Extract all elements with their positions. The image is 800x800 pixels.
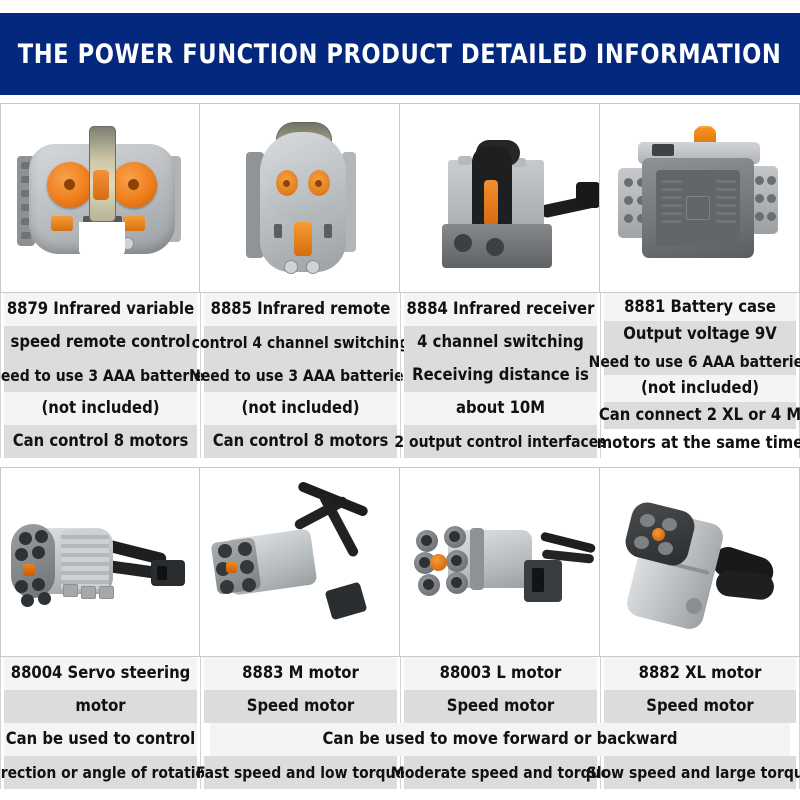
product-line: 88004 Servo steering [4,657,197,690]
merged-usage-note: Can be used to move forward or backward [210,723,790,756]
torque-cell-8883: Fast speed and low torque [200,756,400,789]
header-banner: THE POWER FUNCTION PRODUCT DETAILED INFO… [0,13,800,95]
product-image-infrared-variable-speed-remote-control [0,103,200,293]
product-line: (not included) [204,392,397,425]
product-line: Slow speed and large torque [604,756,796,789]
product-image-m-motor [200,467,400,657]
product-line: control 4 channel switching [204,326,397,359]
product-line: direction or angle of rotation [4,756,197,789]
product-cell-8881: 8881 Battery case Output voltage 9V Need… [600,293,800,458]
product-line: Need to use 6 AAA batteries [604,348,796,375]
product-line: 88003 L motor [404,657,597,690]
product-line: Receiving distance is [404,359,597,392]
product-line: Can control 8 motors [204,425,397,458]
product-image-infrared-receiver [400,103,600,293]
torque-cell-88003: Moderate speed and torque [400,756,600,789]
torque-cell-88004: direction or angle of rotation [0,756,200,789]
product-cell-8882: 8882 XL motor Speed motor [600,657,800,723]
product-text-row-2-usage: Can be used to control Can be used to mo… [0,723,800,756]
product-line: Moderate speed and torque [404,756,597,789]
product-line: motors at the same time [604,429,796,458]
product-cell-88003: 88003 L motor Speed motor [400,657,600,723]
product-image-row-2 [0,467,800,657]
product-information-poster: THE POWER FUNCTION PRODUCT DETAILED INFO… [0,0,800,800]
torque-cell-8882: Slow speed and large torque [600,756,800,789]
product-line: 8885 Infrared remote [204,293,397,326]
product-image-battery-case [600,103,800,293]
product-line: Speed motor [604,690,796,723]
product-line: Can connect 2 XL or 4 M [604,402,796,429]
product-line: 2 output control interfaces [404,425,597,458]
product-line: Speed motor [404,690,597,723]
product-line: speed remote control [4,326,197,359]
product-cell-8885: 8885 Infrared remote control 4 channel s… [200,293,400,458]
product-line: Can be used to control [4,723,197,756]
product-line: about 10M [404,392,597,425]
product-text-row-1: 8879 Infrared variable speed remote cont… [0,293,800,458]
row-spacer [0,458,800,467]
product-line: (not included) [604,375,796,402]
product-text-row-2-torque: direction or angle of rotation Fast spee… [0,756,800,789]
product-line: 8881 Battery case [604,293,796,321]
product-line: Need to use 3 AAA batteries [204,359,397,392]
product-line: 8882 XL motor [604,657,796,690]
product-grid: 8879 Infrared variable speed remote cont… [0,103,800,789]
product-image-l-motor [400,467,600,657]
product-text-row-2-top: 88004 Servo steering motor 8883 M motor … [0,657,800,723]
product-image-servo-steering-motor [0,467,200,657]
product-line: 8883 M motor [204,657,397,690]
product-image-xl-motor [600,467,800,657]
product-cell-8884: 8884 Infrared receiver 4 channel switchi… [400,293,600,458]
product-cell-8879: 8879 Infrared variable speed remote cont… [0,293,200,458]
product-line: 8884 Infrared receiver [404,293,597,326]
product-line: (not included) [4,392,197,425]
product-line: Fast speed and low torque [204,756,397,789]
page-title: THE POWER FUNCTION PRODUCT DETAILED INFO… [18,39,782,70]
product-line: motor [4,690,197,723]
usage-cell-merged-motors: Can be used to move forward or backward [200,723,800,756]
product-line: Speed motor [204,690,397,723]
product-image-infrared-remote-control-4-channel [200,103,400,293]
usage-cell-88004: Can be used to control [0,723,200,756]
product-cell-8883: 8883 M motor Speed motor [200,657,400,723]
product-cell-88004: 88004 Servo steering motor [0,657,200,723]
product-line: 4 channel switching [404,326,597,359]
product-line: Need to use 3 AAA batteries [4,359,197,392]
product-line: Output voltage 9V [604,321,796,348]
product-line: 8879 Infrared variable [4,293,197,326]
product-line: Can control 8 motors [4,425,197,458]
product-image-row-1 [0,103,800,293]
